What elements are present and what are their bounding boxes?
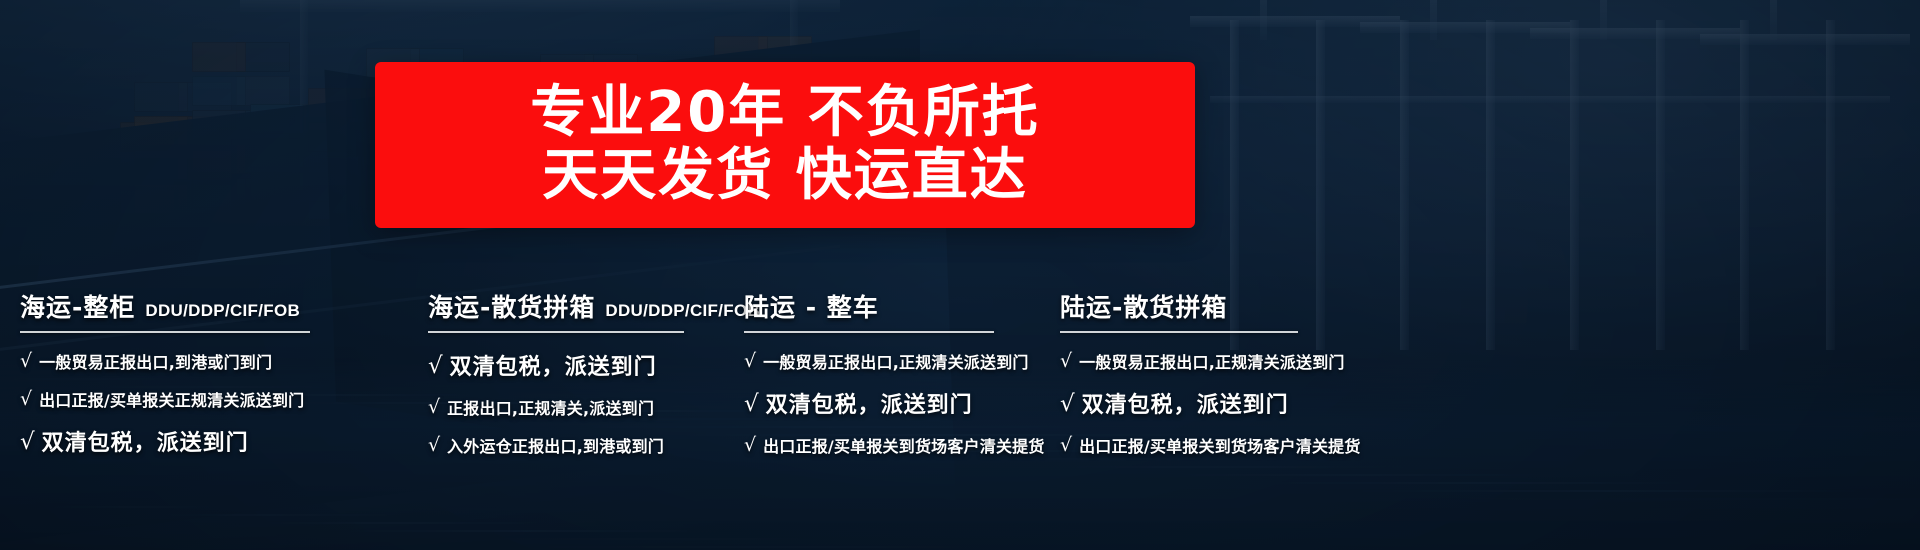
check-icon: √ [744,393,759,416]
headline-line-1: 专业20年 不负所托 [530,82,1039,145]
service-item-list: √ 一般贸易正报出口,到港或门到门 √ 出口正报/买单报关正规清关派送到门 √ … [20,349,412,457]
column-title: 海运-散货拼箱 [428,288,595,324]
column-title: 海运-整柜 [20,288,135,324]
column-header: 陆运-散货拼箱 [1060,288,1390,324]
list-item: √ 出口正报/买单报关正规清关派送到门 [20,387,412,411]
list-item-label: 正报出口,正规清关,派送到门 [447,395,654,419]
list-item-label: 双清包税，派送到门 [1082,387,1289,419]
list-item-label: 一般贸易正报出口,正规清关派送到门 [763,349,1028,373]
check-icon: √ [428,398,440,417]
check-icon: √ [428,436,440,455]
check-icon: √ [20,390,32,409]
list-item: √ 出口正报/买单报关到货场客户清关提货 [744,433,1044,457]
service-item-list: √ 一般贸易正报出口,正规清关派送到门 √ 双清包税，派送到门 √ 出口正报/买… [1060,349,1390,457]
check-icon: √ [428,355,443,378]
list-item: √ 出口正报/买单报关到货场客户清关提货 [1060,433,1390,457]
service-columns: 海运-整柜 DDU/DDP/CIF/FOB √ 一般贸易正报出口,到港或门到门 … [0,288,1920,471]
list-item-label: 双清包税，派送到门 [766,387,973,419]
list-item-label: 出口正报/买单报关正规清关派送到门 [39,387,304,411]
list-item-label: 入外运仓正报出口,到港或到门 [447,433,664,457]
service-column-sea-fcl: 海运-整柜 DDU/DDP/CIF/FOB √ 一般贸易正报出口,到港或门到门 … [12,288,420,471]
header-divider [1060,331,1298,333]
header-divider [428,331,684,333]
header-divider [744,331,994,333]
check-icon: √ [1060,436,1072,455]
list-item-label: 双清包税，派送到门 [450,349,657,381]
column-header: 海运-散货拼箱 DDU/DDP/CIF/FOB [428,288,728,324]
check-icon: √ [20,352,32,371]
headline-line-2: 天天发货 快运直达 [542,145,1028,208]
column-header: 陆运 - 整车 [744,288,1044,324]
list-item: √ 入外运仓正报出口,到港或到门 [428,433,728,457]
list-item: √ 双清包税，派送到门 [20,425,412,457]
check-icon: √ [744,352,756,371]
list-item: √ 双清包税，派送到门 [428,349,728,381]
service-item-list: √ 一般贸易正报出口,正规清关派送到门 √ 双清包税，派送到门 √ 出口正报/买… [744,349,1044,457]
header-divider [20,331,310,333]
check-icon: √ [1060,393,1075,416]
list-item: √ 一般贸易正报出口,正规清关派送到门 [1060,349,1390,373]
list-item-label: 一般贸易正报出口,到港或门到门 [39,349,272,373]
promo-banner: 专业20年 不负所托 天天发货 快运直达 海运-整柜 DDU/DDP/CIF/F… [0,0,1920,550]
service-item-list: √ 双清包税，派送到门 √ 正报出口,正规清关,派送到门 √ 入外运仓正报出口,… [428,349,728,457]
list-item-label: 出口正报/买单报关到货场客户清关提货 [1079,433,1360,457]
service-column-sea-lcl: 海运-散货拼箱 DDU/DDP/CIF/FOB √ 双清包税，派送到门 √ 正报… [420,288,736,471]
list-item: √ 一般贸易正报出口,到港或门到门 [20,349,412,373]
column-header: 海运-整柜 DDU/DDP/CIF/FOB [20,288,412,324]
list-item-label: 出口正报/买单报关到货场客户清关提货 [763,433,1044,457]
check-icon: √ [1060,352,1072,371]
list-item-label: 一般贸易正报出口,正规清关派送到门 [1079,349,1344,373]
list-item: √ 正报出口,正规清关,派送到门 [428,395,728,419]
list-item: √ 一般贸易正报出口,正规清关派送到门 [744,349,1044,373]
column-title: 陆运-散货拼箱 [1060,288,1227,324]
list-item: √ 双清包税，派送到门 [1060,387,1390,419]
service-column-land-lcl: 陆运-散货拼箱 √ 一般贸易正报出口,正规清关派送到门 √ 双清包税，派送到门 … [1052,288,1398,471]
list-item-label: 双清包税，派送到门 [42,425,249,457]
check-icon: √ [744,436,756,455]
column-title: 陆运 - 整车 [744,288,879,324]
column-subtitle: DDU/DDP/CIF/FOB [145,301,300,321]
headline-plate: 专业20年 不负所托 天天发货 快运直达 [375,62,1195,228]
list-item: √ 双清包税，派送到门 [744,387,1044,419]
service-column-land-ftl: 陆运 - 整车 √ 一般贸易正报出口,正规清关派送到门 √ 双清包税，派送到门 … [736,288,1052,471]
check-icon: √ [20,431,35,454]
